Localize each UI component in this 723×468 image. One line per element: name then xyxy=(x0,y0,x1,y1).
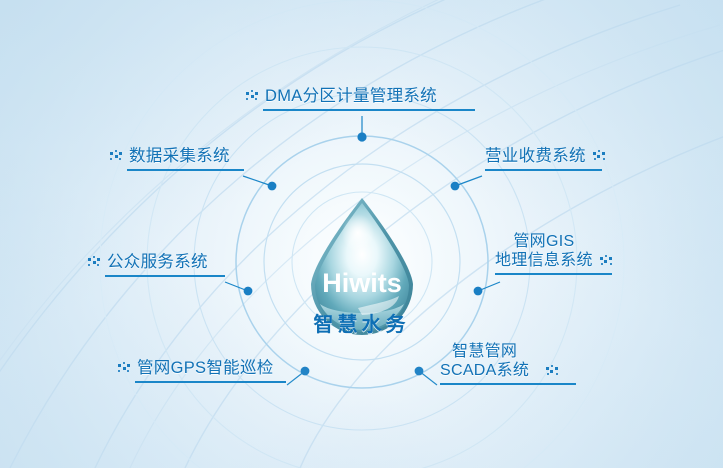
dotted-arrow-right-icon xyxy=(118,362,131,375)
node-scada-label-line2: SCADA系统 xyxy=(440,361,529,380)
node-public-service[interactable]: 公众服务系统 xyxy=(88,252,225,277)
node-gps-inspection-underline xyxy=(135,381,286,383)
node-billing-label: 营业收费系统 xyxy=(485,146,586,166)
node-gps-inspection-label: 管网GPS智能巡检 xyxy=(137,358,274,378)
dotted-arrow-left-icon xyxy=(592,150,605,163)
node-gis-label-line1: 管网GIS xyxy=(495,232,593,251)
dotted-arrow-right-icon xyxy=(88,256,101,269)
node-billing-underline xyxy=(485,169,602,171)
node-scada[interactable]: 智慧管网 SCADA系统 xyxy=(440,342,576,385)
node-gis[interactable]: 管网GIS 地理信息系统 xyxy=(495,232,612,275)
dotted-arrow-left-icon xyxy=(545,365,558,378)
node-public-service-label: 公众服务系统 xyxy=(107,252,208,272)
node-gis-underline xyxy=(495,273,612,275)
node-scada-underline xyxy=(440,383,576,385)
dotted-arrow-right-icon xyxy=(246,90,259,103)
node-data-acquisition[interactable]: 数据采集系统 xyxy=(110,146,244,171)
node-dma[interactable]: DMA分区计量管理系统 xyxy=(246,86,475,111)
node-data-acquisition-underline xyxy=(127,169,244,171)
connector-data-acquisition xyxy=(243,176,272,186)
node-scada-label-line1: 智慧管网 xyxy=(440,342,529,361)
node-billing[interactable]: 营业收费系统 xyxy=(485,146,605,171)
node-dma-label: DMA分区计量管理系统 xyxy=(265,86,437,106)
node-data-acquisition-label: 数据采集系统 xyxy=(129,146,230,166)
connector-lines xyxy=(0,0,723,468)
node-public-service-underline xyxy=(105,275,225,277)
connector-dots xyxy=(244,132,483,375)
infographic-canvas: Hiwits 智慧水务 DMA分区计量管理系统 数据采集系统 xyxy=(0,0,723,468)
node-gps-inspection[interactable]: 管网GPS智能巡检 xyxy=(118,358,286,383)
dotted-arrow-left-icon xyxy=(599,255,612,268)
node-gis-label-line2: 地理信息系统 xyxy=(495,251,593,270)
dotted-arrow-right-icon xyxy=(110,150,123,163)
node-dma-underline xyxy=(263,109,475,111)
